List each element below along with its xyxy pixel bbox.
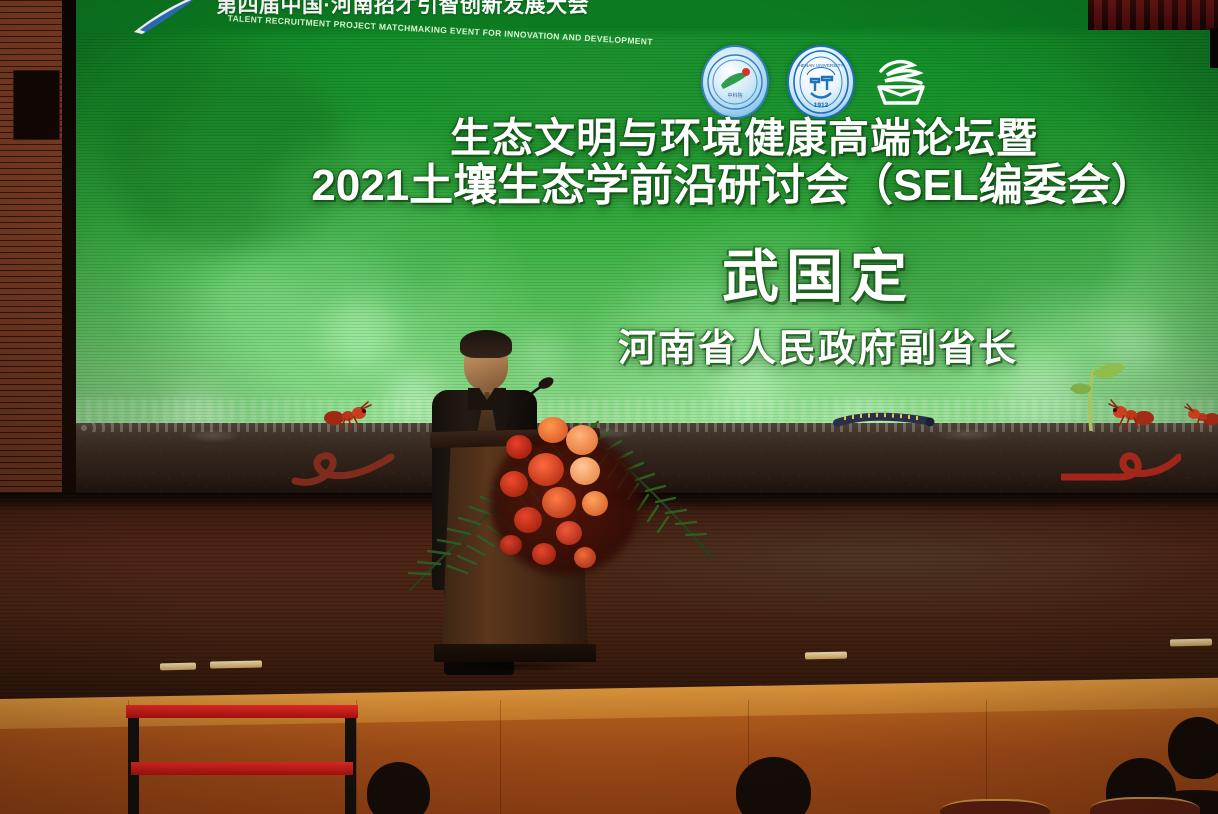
forum-title-line-1: 生态文明与环境健康高端论坛暨 — [152, 118, 1218, 160]
flower-bloom — [566, 425, 598, 455]
flower-bloom — [542, 487, 576, 518]
flower-bloom — [506, 435, 532, 459]
flower-bloom — [514, 507, 542, 533]
step-tread-upper — [126, 705, 358, 718]
flower-bloom — [556, 521, 582, 545]
organizer-logo-row: 中科院 HENAN UNIVERSITY 1912 — [701, 45, 929, 119]
floor-light — [1170, 639, 1212, 647]
flower-bloom — [538, 417, 568, 443]
auditorium-seat-back — [1090, 797, 1200, 814]
wall-seam — [500, 700, 501, 814]
flower-bloom — [574, 547, 596, 568]
swoosh-logo-icon — [128, 0, 214, 36]
auditorium-seat-back — [940, 799, 1050, 814]
flower-bloom — [532, 543, 556, 565]
floor-light — [805, 652, 847, 660]
speaker-hair — [460, 330, 512, 358]
henan-university-emblem-icon: HENAN UNIVERSITY 1912 — [787, 45, 855, 119]
earthworm-right-icon — [1061, 447, 1181, 487]
top-banner-strip: 第四届中国·河南招才引智创新发展大会 TALENT RECRUITMENT PR… — [76, 0, 1218, 38]
ant-left-icon — [321, 401, 373, 431]
step-side-rail — [128, 705, 139, 814]
soil-ecology-mark-icon — [873, 51, 929, 113]
flower-bloom — [570, 457, 600, 485]
flower-bloom — [500, 535, 522, 555]
conference-photo: 第四届中国·河南招才引智创新发展大会 TALENT RECRUITMENT PR… — [0, 0, 1218, 814]
stage-steps[interactable] — [128, 705, 356, 814]
flower-bloom — [500, 471, 528, 497]
speaker-name: 武国定 — [152, 231, 1218, 313]
institute-emblem-icon: 中科院 — [701, 45, 769, 119]
forum-title-line-2: 2021土壤生态学前沿研讨会（SEL编委会） — [152, 162, 1218, 210]
right-curtain-valance — [1088, 0, 1218, 30]
step-side-rail — [345, 705, 356, 814]
ant-right-icon — [1106, 399, 1158, 431]
millipede-icon — [831, 411, 941, 433]
svg-text:HENAN UNIVERSITY: HENAN UNIVERSITY — [799, 63, 844, 68]
right-wall-shadow — [1210, 28, 1218, 68]
podium-floor-shadow — [416, 658, 616, 674]
step-tread-lower — [131, 762, 353, 775]
flower-bloom — [528, 453, 564, 486]
wall-seam — [986, 700, 987, 814]
floor-light — [160, 663, 196, 671]
speaker-role: 河南省人民政府副省长 — [152, 317, 1218, 372]
svg-text:1912: 1912 — [814, 102, 829, 109]
flower-bloom — [582, 491, 608, 516]
ant-far-right-icon — [1184, 403, 1218, 431]
floor-light — [210, 660, 262, 668]
left-wall-recess-panel — [13, 70, 60, 140]
earthworm-left-icon — [291, 445, 401, 487]
svg-text:中科院: 中科院 — [727, 92, 742, 99]
audience-head — [1168, 717, 1218, 779]
floral-arrangement — [470, 395, 660, 645]
banner-title-block: 生态文明与环境健康高端论坛暨 2021土壤生态学前沿研讨会（SEL编委会） 武国… — [152, 118, 1218, 372]
